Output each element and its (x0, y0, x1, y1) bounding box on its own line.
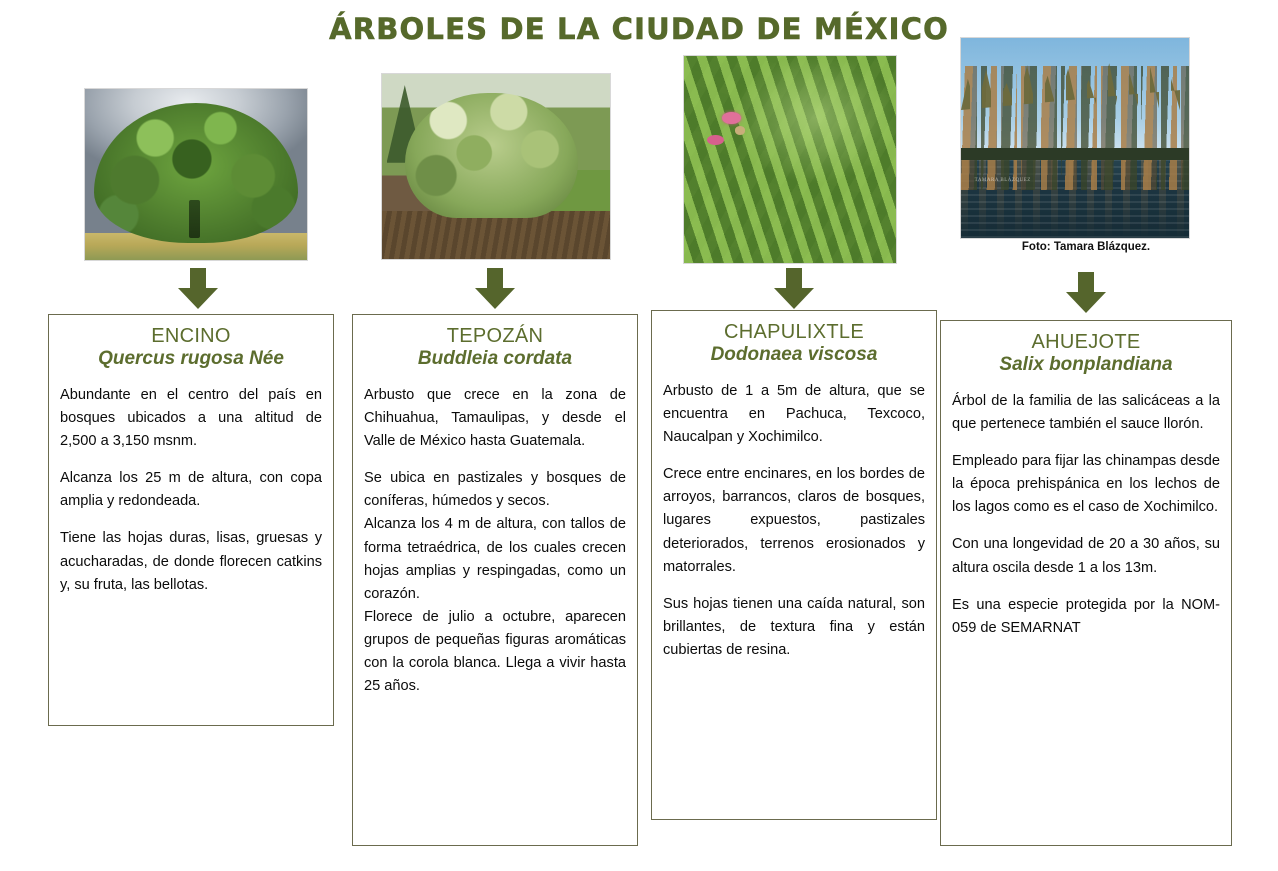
description-paragraph: Es una especie protegida por la NOM-059 … (952, 594, 1220, 640)
seed-capsule (735, 126, 746, 134)
tree-description: Abundante en el centro del país en bosqu… (60, 384, 322, 596)
description-paragraph: Arbusto de 1 a 5m de altura, que se encu… (663, 380, 925, 449)
light-highlight (684, 56, 896, 263)
down-arrow-icon (772, 268, 816, 310)
description-paragraph: Se ubica en pastizales y bosques de coní… (364, 467, 626, 513)
description-paragraph: Alcanza los 4 m de altura, con tallos de… (364, 513, 626, 605)
canal-bank (961, 148, 1189, 160)
infographic-page: ÁRBOLES DE LA CIUDAD DE MÉXICO (0, 0, 1278, 871)
mulch-ground (382, 211, 610, 259)
tree-common-name: CHAPULIXTLE (663, 321, 925, 343)
down-arrow-icon (176, 268, 220, 310)
tree-common-name: TEPOZÁN (364, 325, 626, 347)
tree-photo-chapulixtle (683, 55, 897, 264)
description-paragraph: Árbol de la familia de las salicáceas a … (952, 390, 1220, 436)
tree-scientific-name: Buddleia cordata (364, 348, 626, 370)
tree-scientific-name: Salix bonplandiana (952, 354, 1220, 376)
description-paragraph: Abundante en el centro del país en bosqu… (60, 384, 322, 453)
photo-credit: Foto: Tamara Blázquez. (940, 241, 1232, 253)
photo-watermark: TAMARA BLÁZQUEZ (975, 178, 1031, 183)
tree-card-tepozan: TEPOZÁN Buddleia cordata Arbusto que cre… (352, 314, 638, 846)
tree-description: Arbusto de 1 a 5m de altura, que se encu… (663, 380, 925, 662)
tree-photo-encino (84, 88, 308, 261)
description-paragraph: Alcanza los 25 m de altura, con copa amp… (60, 467, 322, 513)
description-paragraph: Arbusto que crece en la zona de Chihuahu… (364, 384, 626, 453)
willow-row (961, 66, 1189, 190)
tree-photo-tepozan (381, 73, 611, 260)
description-paragraph: Empleado para fijar las chinampas desde … (952, 450, 1220, 519)
tree-card-encino: ENCINO Quercus rugosa Née Abundante en e… (48, 314, 334, 726)
tree-card-ahuejote: AHUEJOTE Salix bonplandiana Árbol de la … (940, 320, 1232, 846)
tree-common-name: ENCINO (60, 325, 322, 347)
shrub-canopy (405, 93, 578, 219)
description-paragraph: Sus hojas tienen una caída natural, son … (663, 593, 925, 662)
tree-common-name: AHUEJOTE (952, 331, 1220, 353)
tree-trunk (189, 200, 200, 238)
description-paragraph: Florece de julio a octubre, aparecen gru… (364, 606, 626, 698)
tree-description: Árbol de la familia de las salicáceas a … (952, 390, 1220, 639)
description-paragraph: Con una longevidad de 20 a 30 años, su a… (952, 533, 1220, 579)
tree-scientific-name: Quercus rugosa Née (60, 348, 322, 370)
down-arrow-icon (1064, 272, 1108, 314)
pink-flower (707, 135, 724, 145)
down-arrow-icon (473, 268, 517, 310)
tree-description: Arbusto que crece en la zona de Chihuahu… (364, 384, 626, 698)
tree-card-chapulixtle: CHAPULIXTLE Dodonaea viscosa Arbusto de … (651, 310, 937, 820)
description-paragraph: Tiene las hojas duras, lisas, gruesas y … (60, 527, 322, 596)
tree-scientific-name: Dodonaea viscosa (663, 344, 925, 366)
description-paragraph: Crece entre encinares, en los bordes de … (663, 463, 925, 578)
tree-photo-ahuejote: TAMARA BLÁZQUEZ (960, 37, 1190, 239)
